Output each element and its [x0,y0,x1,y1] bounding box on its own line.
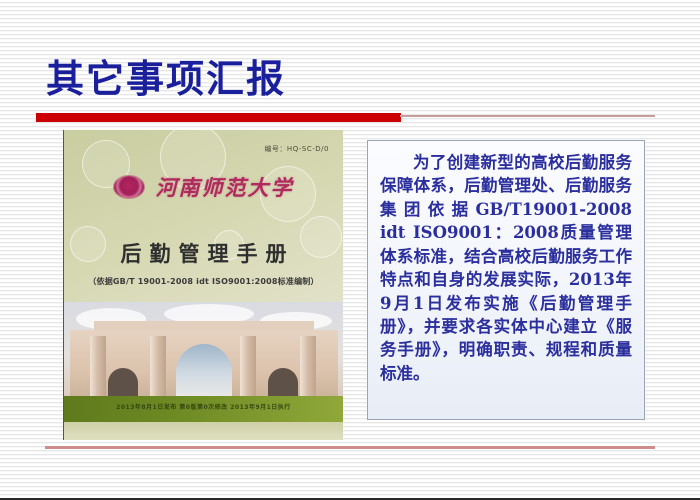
book-manual-title: 后勤管理手册 [64,238,343,268]
book-cover-bottom-edge [64,422,343,440]
book-cover-image: 编号：HQ-SC-D/0 河南师范大学 后勤管理手册 （依据GB/T 19001… [63,130,343,440]
book-footer-note: 2013年8月1日发布 第0版第0次修改 2013年9月1日执行 [64,402,343,411]
book-standard-note: （依据GB/T 19001-2008 idt ISO9001:2008标准编制） [64,276,343,287]
description-textbox: 为了创建新型的高校后勤服务保障体系，后勤管理处、后勤服务集团依据GB/T1900… [367,140,645,420]
gate-left-arch [108,368,138,396]
page-title: 其它事项汇报 [46,60,286,98]
university-name: 河南师范大学 [156,172,294,202]
book-code-label: 编号：HQ-SC-D/0 [264,144,329,154]
gate-column [90,336,106,396]
gate-cornice [94,321,314,330]
book-brand-row: 河南师范大学 [64,172,343,202]
footer-accent-line [45,446,655,449]
gate-column [240,336,256,396]
gate-main-arch [176,344,232,396]
university-emblem-icon [114,176,144,198]
presentation-slide: 其它事项汇报 编号：HQ-SC-D/0 河南师范大学 后勤管理手册 （依据GB/… [0,0,700,500]
title-accent-bar [36,113,401,122]
book-footer-band: 2013年8月1日发布 第0版第0次修改 2013年9月1日执行 [64,396,343,422]
title-accent-line [400,115,655,117]
campus-gate-photo: 2013年8月1日发布 第0版第0次修改 2013年9月1日执行 [64,302,343,422]
description-paragraph: 为了创建新型的高校后勤服务保障体系，后勤管理处、后勤服务集团依据GB/T1900… [380,151,632,385]
gate-column [150,336,166,396]
gate-column [300,336,316,396]
gate-right-arch [268,368,298,396]
